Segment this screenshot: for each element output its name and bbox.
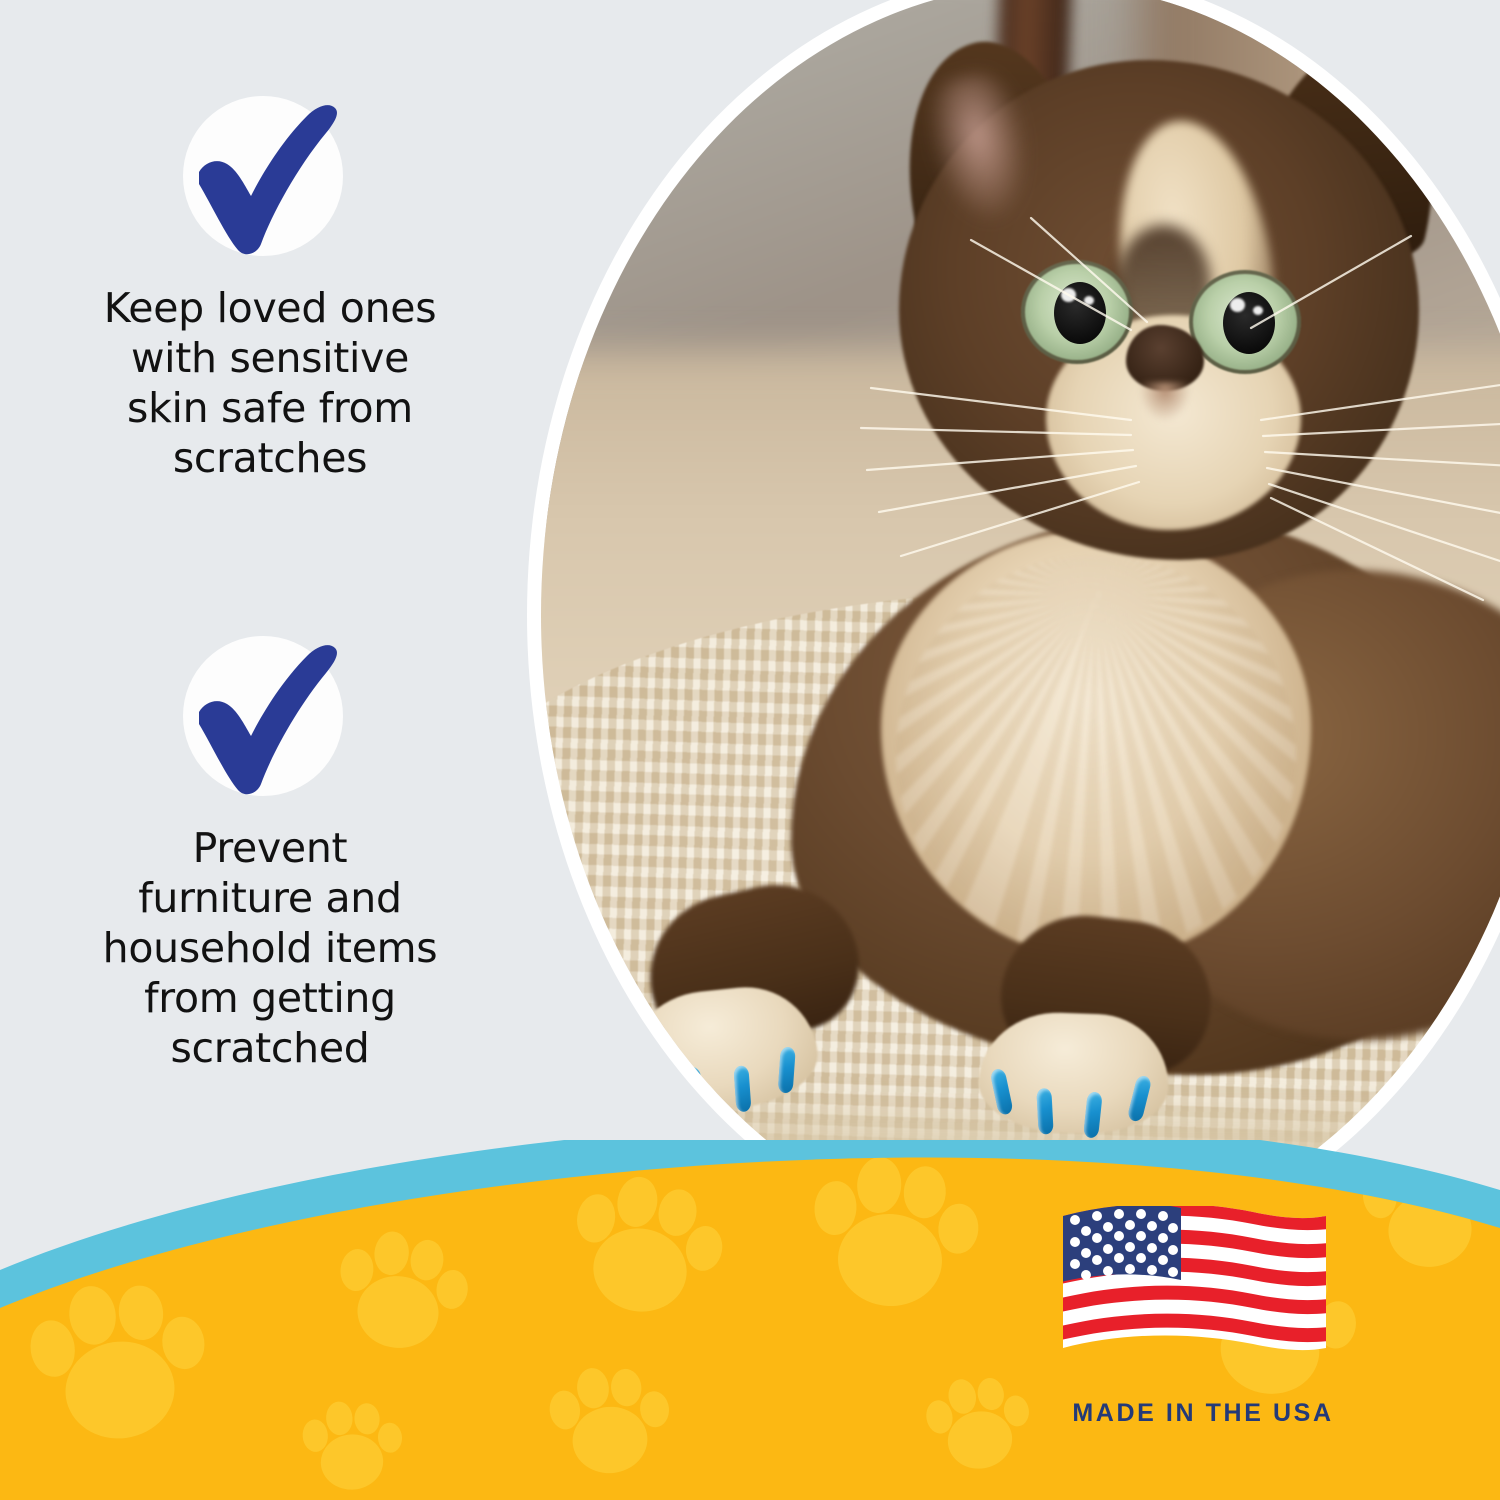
feature-text-line: scratches [60, 433, 480, 483]
feature-text-line: Keep loved ones [60, 283, 480, 333]
check-icon [183, 636, 358, 811]
cat-whiskers [831, 270, 1500, 690]
feature-list: Keep loved ones with sensitive skin safe… [0, 0, 540, 1180]
made-in-usa-badge: MADE IN THE USA [1053, 1206, 1353, 1456]
feature-item: Prevent furniture and household items fr… [0, 636, 540, 1073]
feature-text-line: with sensitive [60, 333, 480, 383]
feature-text: Prevent furniture and household items fr… [60, 823, 480, 1073]
check-icon-glyph [183, 636, 358, 811]
infographic-canvas: Keep loved ones with sensitive skin safe… [0, 0, 1500, 1500]
photo-scene [541, 0, 1500, 1246]
nail-cap [1036, 1088, 1053, 1135]
product-photo [541, 0, 1500, 1246]
feature-text-line: from getting [60, 973, 480, 1023]
feature-text-line: furniture and [60, 873, 480, 923]
check-icon-glyph [183, 96, 358, 271]
feature-text-line: skin safe from [60, 383, 480, 433]
feature-item: Keep loved ones with sensitive skin safe… [0, 96, 540, 483]
made-in-usa-label: MADE IN THE USA [1053, 1399, 1353, 1428]
check-icon [183, 96, 358, 271]
usa-flag-icon [1063, 1206, 1326, 1371]
feature-text-line: household items [60, 923, 480, 973]
cat-subject [541, 0, 1500, 1246]
feature-text-line: Prevent [60, 823, 480, 873]
nail-cap [733, 1065, 751, 1112]
feature-text: Keep loved ones with sensitive skin safe… [60, 283, 480, 483]
product-photo-frame [527, 0, 1500, 1260]
feature-text-line: scratched [60, 1023, 480, 1073]
